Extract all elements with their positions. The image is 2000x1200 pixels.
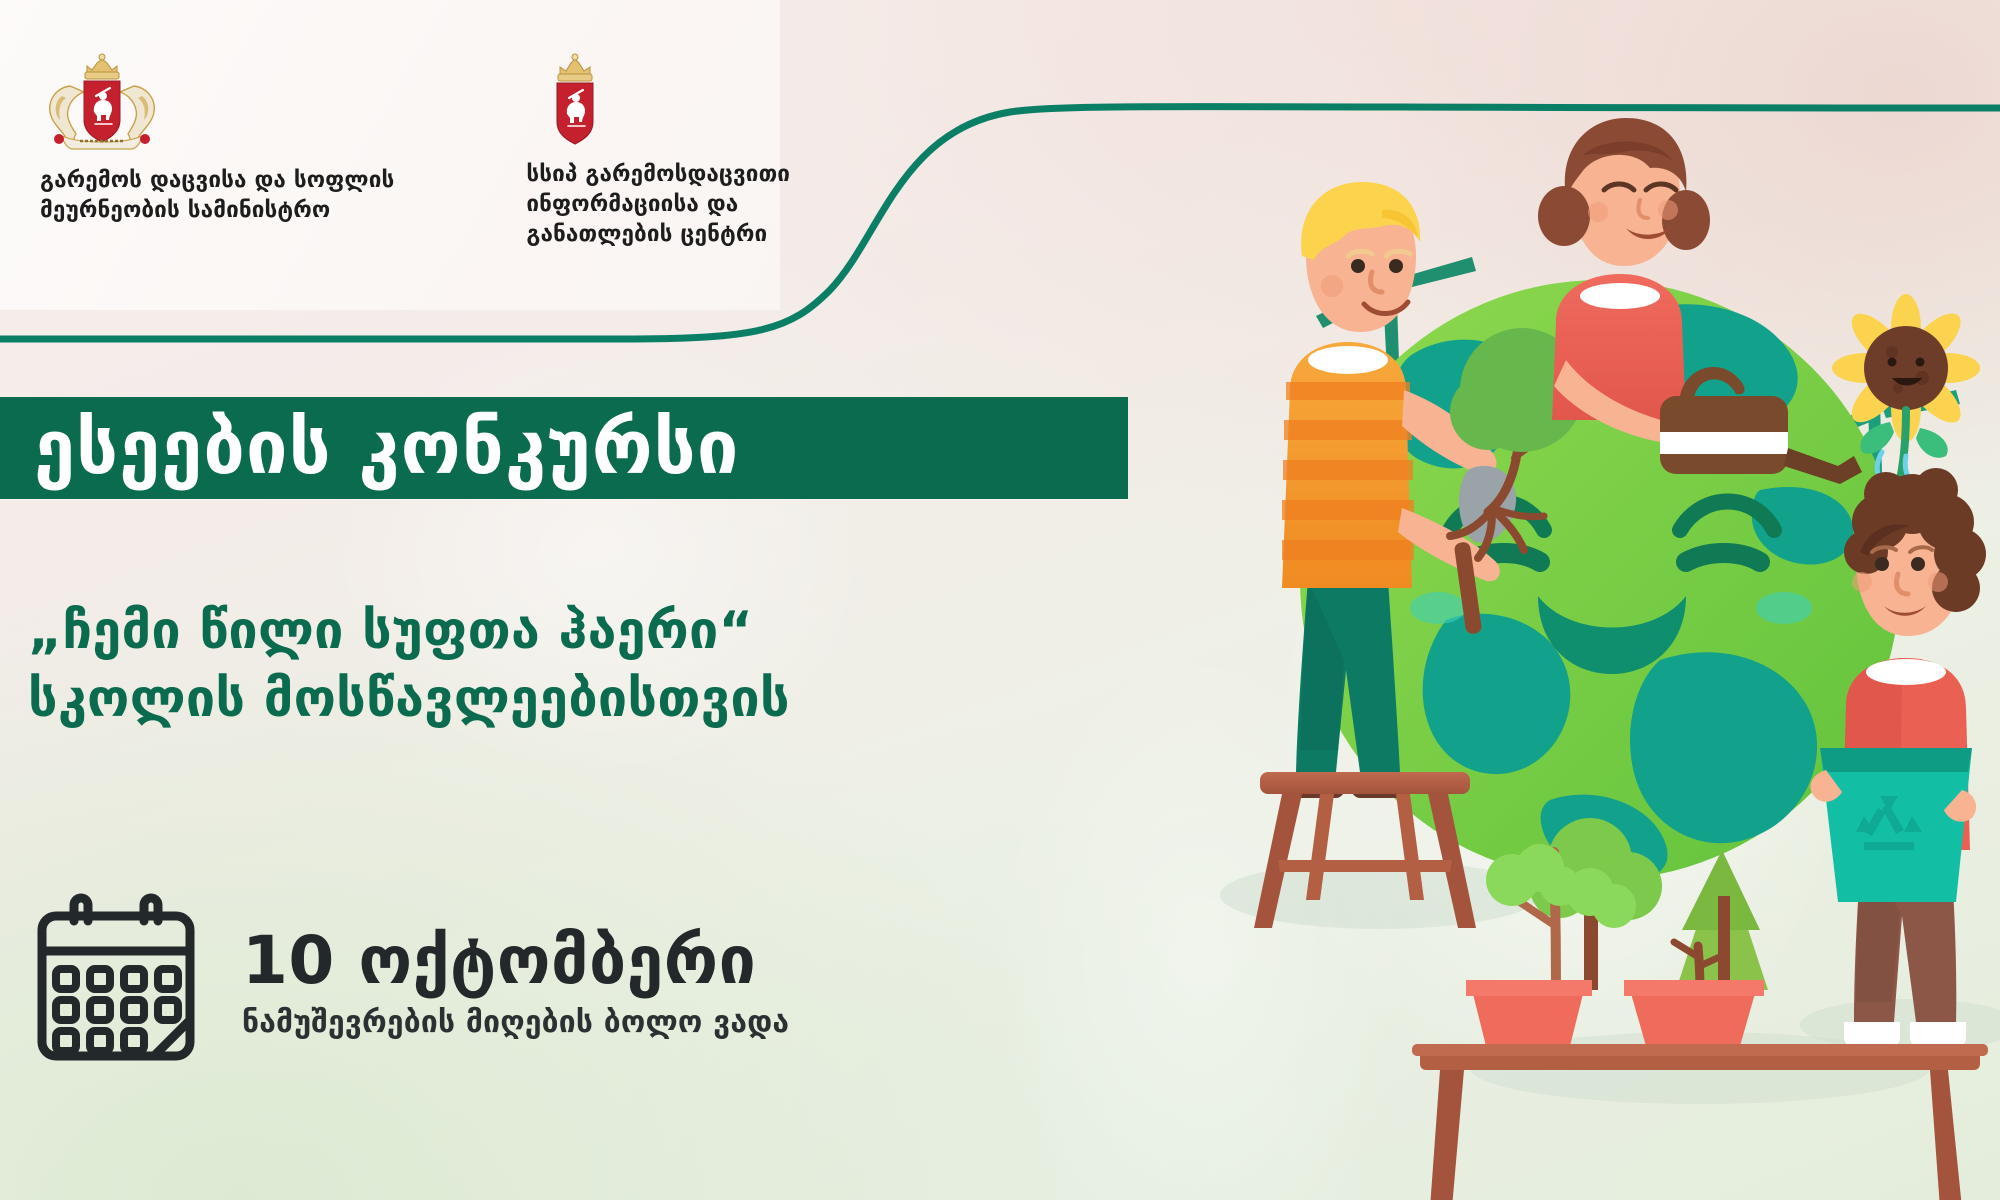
subtitle-line-1: „ჩემი წილი სუფთა ჰაერი“ — [28, 598, 1208, 666]
logo-row: გარემოს დაცვისა და სოფლის მეურნეობის სამ… — [40, 52, 790, 250]
globe-blush-right — [1756, 592, 1812, 624]
globe-blush-left — [1410, 592, 1466, 624]
deadline-date: 10 ოქტომბერი — [242, 926, 789, 995]
children-planting-earth-illustration — [1120, 60, 2000, 1200]
boy-right-eye-right — [1911, 557, 1925, 571]
georgia-state-coat-of-arms-icon — [40, 52, 164, 152]
deadline-text: 10 ოქტომბერი ნამუშევრების მიღების ბოლო ვ… — [242, 926, 789, 1040]
deadline-block: 10 ოქტომბერი ნამუშევრების მიღების ბოლო ვ… — [30, 893, 789, 1073]
boy-eye-left — [1351, 259, 1365, 273]
calendar-icon — [30, 893, 202, 1073]
poster-root: გარემოს დაცვისა და სოფლის მეურნეობის სამ… — [0, 0, 2000, 1200]
logo-ministry: გარემოს დაცვისა და სოფლის მეურნეობის სამ… — [40, 52, 394, 226]
logo-center-label: სსიპ გარემოსდაცვითი ინფორმაციისა და განა… — [526, 160, 790, 250]
logo-ministry-label: გარემოს დაცვისა და სოფლის მეურნეობის სამ… — [40, 166, 394, 226]
recycling-bin-icon — [1820, 748, 1972, 902]
sunflower-eye-right — [1916, 358, 1925, 367]
girl-hair-bun-left — [1538, 186, 1590, 246]
globe-eye-right — [1686, 553, 1760, 562]
deadline-caption: ნამუშევრების მიღების ბოლო ვადა — [242, 1005, 789, 1040]
sunflower-eye-left — [1888, 358, 1897, 367]
boy-right-eye-left — [1875, 557, 1889, 571]
girl-hair-side-right — [1662, 190, 1710, 250]
page-title: ესეების კონკურსი — [0, 411, 739, 485]
subtitle-block: „ჩემი წილი სუფთა ჰაერი“ სკოლის მოსწავლეე… — [28, 598, 1208, 733]
subtitle-line-2: სკოლის მოსწავლეებისთვის — [28, 666, 1208, 734]
title-band: ესეების კონკურსი — [0, 397, 1128, 499]
georgia-small-coat-of-arms-icon — [544, 52, 606, 148]
boy-eye-right — [1389, 259, 1403, 273]
logo-center: სსიპ გარემოსდაცვითი ინფორმაციისა და განა… — [526, 52, 790, 250]
